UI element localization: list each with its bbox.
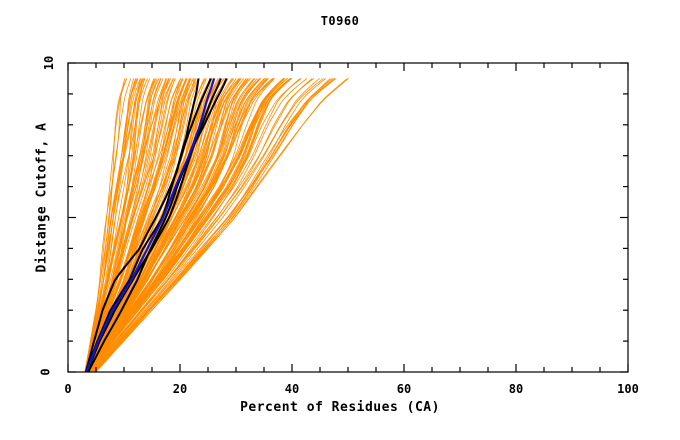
x-tick-label: 100 <box>617 382 639 396</box>
x-tick-label: 80 <box>509 382 523 396</box>
y-tick-label: 5 <box>39 214 53 221</box>
plot-canvas <box>0 0 680 440</box>
x-axis-label: Percent of Residues (CA) <box>0 400 680 415</box>
prediction-curves-orange <box>85 78 349 372</box>
y-tick-label: 0 <box>39 368 53 375</box>
x-tick-label: 20 <box>173 382 187 396</box>
x-tick-label: 60 <box>397 382 411 396</box>
y-axis-label: Distance Cutoff, A <box>35 68 50 328</box>
x-tick-label: 0 <box>64 382 71 396</box>
page-title: T0960 <box>0 14 680 28</box>
y-tick-label: 10 <box>42 56 56 70</box>
x-tick-label: 40 <box>285 382 299 396</box>
figure-container: T0960 Distance Cutoff, A Percent of Resi… <box>0 0 680 440</box>
